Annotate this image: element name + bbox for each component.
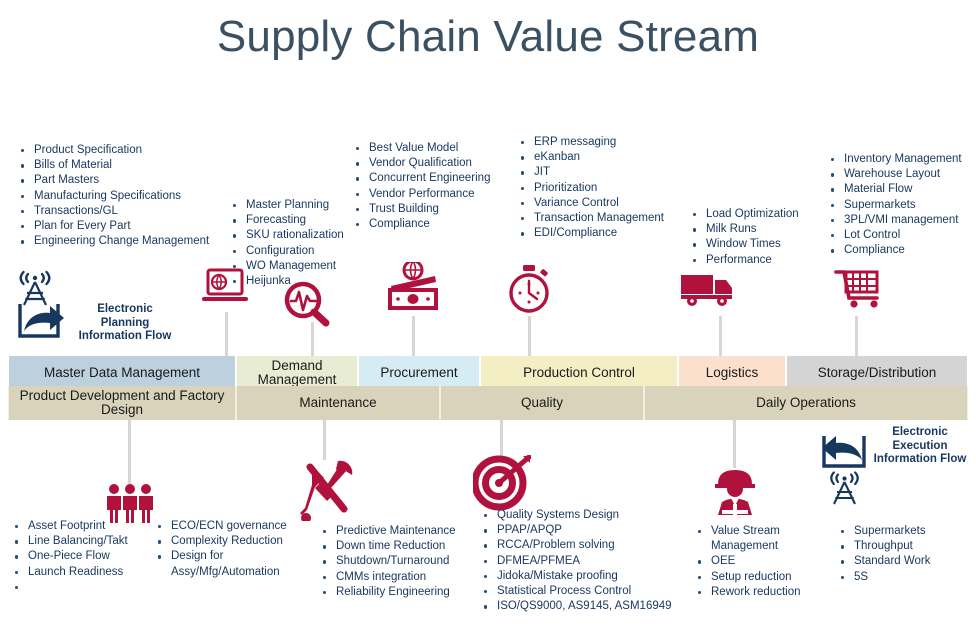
band-label: Product Development and Factory Design — [9, 389, 235, 418]
list-item: Forecasting — [230, 213, 344, 228]
list-item: Inventory Management — [828, 152, 962, 167]
list-item: Part Masters — [18, 173, 209, 188]
execution-flow-line3: Information Flow — [866, 453, 974, 467]
list-item: ERP messaging — [518, 135, 664, 150]
worker-helmet-icon — [712, 468, 758, 521]
connector-line-production — [412, 316, 415, 356]
list-item: eKanban — [518, 150, 664, 165]
execution-flow-line2: Execution — [866, 440, 974, 454]
shopping-cart-icon — [832, 268, 884, 317]
bullet-list-storage: Inventory Management Warehouse Layout Ma… — [828, 152, 962, 258]
band-cell-demand-management[interactable]: Demand Management — [236, 356, 358, 390]
band-label: Storage/Distribution — [818, 366, 937, 381]
list-item: Vendor Qualification — [353, 156, 490, 171]
list-item: Concurrent Engineering — [353, 171, 490, 186]
bullet-list-maintenance: Predictive Maintenance Down time Reducti… — [320, 524, 456, 600]
band-label: Demand Management — [237, 359, 357, 388]
list-item-continuation: Assy/Mfg/Automation — [155, 565, 287, 580]
list-item: ISO/QS9000, AS9145, ASM16949 — [481, 599, 672, 614]
list-item: 3PL/VMI management — [828, 213, 962, 228]
stopwatch-icon — [503, 264, 555, 321]
list-item: Setup reduction — [695, 570, 800, 585]
value-stream-diagram: Supply Chain Value Stream Product Specif… — [0, 0, 976, 634]
planning-flow-line2: Planning — [75, 317, 175, 331]
band-label: Production Control — [523, 366, 635, 381]
list-item: Milk Runs — [690, 222, 799, 237]
band-cell-daily-operations[interactable]: Daily Operations — [644, 386, 968, 420]
bullet-list-master-data: Product Specification Bills of Material … — [18, 143, 209, 249]
list-item: Transaction Management — [518, 211, 664, 226]
list-item: Compliance — [353, 217, 490, 232]
bullet-list-procurement: Best Value Model Vendor Qualification Co… — [353, 141, 490, 232]
list-item: RCCA/Problem solving — [481, 538, 672, 553]
list-item: Line Balancing/Takt — [12, 534, 128, 549]
list-item: 5S — [838, 570, 931, 585]
bullet-list-logistics: Load Optimization Milk Runs Window Times… — [690, 207, 799, 268]
planning-flow-label: Electronic Planning Information Flow — [75, 303, 175, 344]
bullet-list-production-control: ERP messaging eKanban JIT Prioritization… — [518, 135, 664, 241]
list-item: Performance — [690, 253, 799, 268]
list-item: Best Value Model — [353, 141, 490, 156]
connector-line-production-control — [528, 316, 531, 356]
band-cell-storage-distribution[interactable]: Storage/Distribution — [786, 356, 968, 390]
list-item: ECO/ECN governance — [155, 519, 287, 534]
band-cell-logistics[interactable]: Logistics — [678, 356, 786, 390]
list-item: Standard Work — [838, 554, 931, 569]
list-item: Prioritization — [518, 181, 664, 196]
list-item: Vendor Performance — [353, 187, 490, 202]
process-band-lower: Product Development and Factory Design M… — [8, 386, 968, 420]
list-item: SKU rationalization — [230, 228, 344, 243]
planning-flow-line3: Information Flow — [75, 330, 175, 344]
target-dart-icon — [473, 455, 531, 516]
list-item: Jidoka/Mistake proofing — [481, 569, 672, 584]
list-item: Plan for Every Part — [18, 219, 209, 234]
list-item: Supermarkets — [828, 198, 962, 213]
list-item-continuation: Management — [695, 539, 800, 554]
list-item: EDI/Compliance — [518, 226, 664, 241]
band-label: Quality — [521, 396, 563, 411]
list-item: Bills of Material — [18, 158, 209, 173]
list-item: Rework reduction — [695, 585, 800, 600]
connector-line-maintenance — [323, 420, 326, 460]
band-label: Logistics — [706, 366, 759, 381]
list-item-empty — [12, 580, 128, 595]
list-item: One-Piece Flow — [12, 549, 128, 564]
list-item: Variance Control — [518, 196, 664, 211]
list-item: Shutdown/Turnaround — [320, 554, 456, 569]
list-item: Warehouse Layout — [828, 167, 962, 182]
list-item: Quality Systems Design — [481, 508, 672, 523]
band-label: Procurement — [380, 366, 457, 381]
list-item: DFMEA/PFMEA — [481, 554, 672, 569]
list-item: Launch Readiness — [12, 565, 128, 580]
list-item: JIT — [518, 165, 664, 180]
bullet-list-quality: Quality Systems Design PPAP/APQP RCCA/Pr… — [481, 508, 672, 614]
list-item: Compliance — [828, 243, 962, 258]
list-item: Complexity Reduction — [155, 534, 287, 549]
planning-flow-icon — [12, 268, 84, 345]
list-item: CMMs integration — [320, 570, 456, 585]
magnifier-pulse-icon — [281, 280, 337, 333]
list-item: Predictive Maintenance — [320, 524, 456, 539]
execution-flow-label: Electronic Execution Information Flow — [866, 426, 974, 467]
list-item: Window Times — [690, 237, 799, 252]
band-cell-master-data-management[interactable]: Master Data Management — [8, 356, 236, 390]
list-item: Trust Building — [353, 202, 490, 217]
list-item: Asset Footprint — [12, 519, 128, 534]
band-cell-product-development[interactable]: Product Development and Factory Design — [8, 386, 236, 420]
delivery-truck-icon — [679, 271, 737, 316]
list-item: Lot Control — [828, 228, 962, 243]
band-label: Maintenance — [299, 396, 376, 411]
bullet-list-daily-ops-a: Value Stream Management OEE Setup reduct… — [695, 524, 800, 600]
list-item: Throughput — [838, 539, 931, 554]
connector-line-daily-ops — [733, 420, 736, 468]
list-item: Product Specification — [18, 143, 209, 158]
band-label: Master Data Management — [44, 366, 200, 381]
list-item: OEE — [695, 554, 800, 569]
band-cell-maintenance[interactable]: Maintenance — [236, 386, 440, 420]
list-item: Supermarkets — [838, 524, 931, 539]
planning-flow-line1: Electronic — [75, 303, 175, 317]
page-title: Supply Chain Value Stream — [0, 12, 976, 62]
wrench-screwdriver-icon — [296, 459, 358, 526]
money-globe-icon — [383, 262, 443, 319]
list-item: Transactions/GL — [18, 204, 209, 219]
list-item: Load Optimization — [690, 207, 799, 222]
list-item: Manufacturing Specifications — [18, 189, 209, 204]
connector-line-logistics — [719, 316, 722, 356]
execution-flow-line1: Electronic — [866, 426, 974, 440]
list-item: Down time Reduction — [320, 539, 456, 554]
list-item: PPAP/APQP — [481, 523, 672, 538]
connector-line-storage — [855, 316, 858, 356]
band-cell-quality[interactable]: Quality — [440, 386, 644, 420]
band-cell-production-control[interactable]: Production Control — [480, 356, 678, 390]
list-item: Configuration — [230, 244, 344, 259]
connector-line-quality — [500, 420, 503, 458]
process-band-upper: Master Data Management Demand Management… — [8, 356, 968, 390]
band-label: Daily Operations — [756, 396, 856, 411]
band-cell-procurement[interactable]: Procurement — [358, 356, 480, 390]
list-item: Reliability Engineering — [320, 585, 456, 600]
list-item: Engineering Change Management — [18, 234, 209, 249]
bullet-list-product-dev-b: ECO/ECN governance Complexity Reduction … — [155, 519, 287, 580]
connector-line-product-dev — [128, 420, 131, 484]
list-item: Design for — [155, 549, 287, 564]
list-item: Material Flow — [828, 182, 962, 197]
laptop-globe-icon — [200, 268, 250, 319]
bullet-list-product-dev-a: Asset Footprint Line Balancing/Takt One-… — [12, 519, 128, 595]
bullet-list-daily-ops-b: Supermarkets Throughput Standard Work 5S — [838, 524, 931, 585]
list-item: Statistical Process Control — [481, 584, 672, 599]
list-item: Value Stream — [695, 524, 800, 539]
list-item: Master Planning — [230, 198, 344, 213]
